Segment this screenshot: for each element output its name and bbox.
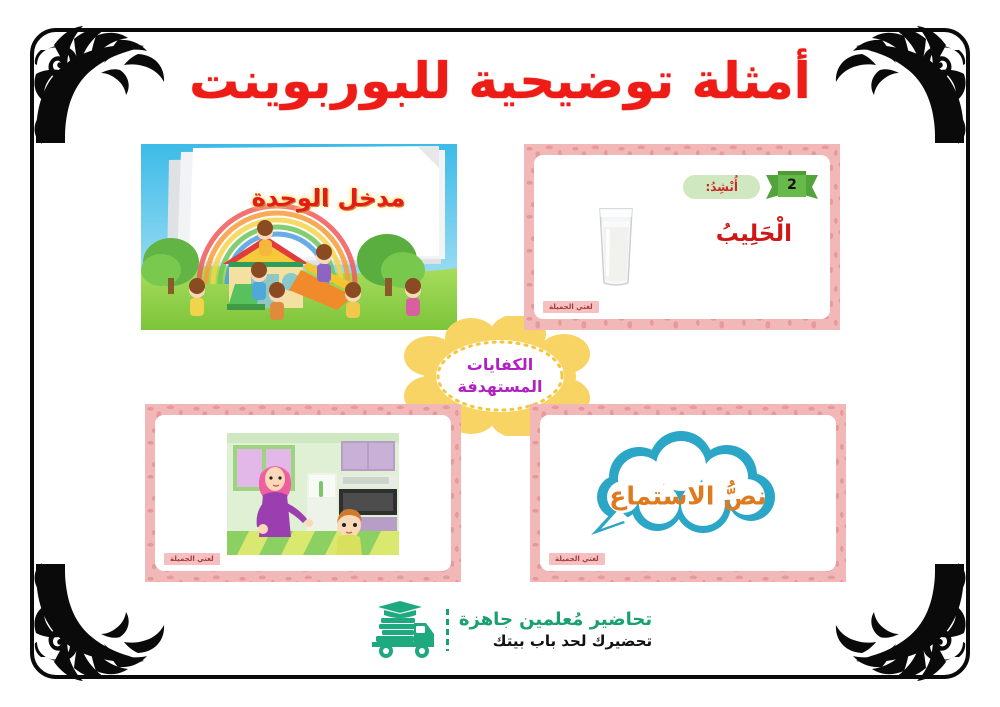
listening-text-label: نصُّ الاستماع	[540, 482, 836, 511]
slide-footer-tag: لغتي الجميلة	[549, 553, 605, 565]
slide-canvas: أُنْشِدُ: 2	[534, 155, 830, 319]
vocabulary-word: الْحَلِيبُ	[716, 221, 792, 247]
playground-illustration: مدخل الوحدة	[141, 144, 457, 330]
pink-patterned-border: أُنْشِدُ: 2	[524, 144, 840, 330]
slide-unit-intro[interactable]: مدخل الوحدة	[141, 144, 457, 330]
brand-logo-text: تحاضير مُعلمين جاهزة تحضيرك لحد باب بيتك	[459, 609, 652, 650]
lesson-number-value: 2	[766, 171, 818, 199]
speech-cloud-icon: نصُّ الاستماع	[540, 415, 836, 571]
slide-canvas: لغتي الجميلة	[155, 415, 451, 571]
glass-of-milk-icon	[592, 203, 640, 288]
slide-listening-text[interactable]: نصُّ الاستماع لغتي الجميلة	[530, 404, 846, 582]
brand-tagline-secondary: تحضيرك لحد باب بيتك	[459, 632, 652, 651]
truck-with-books-and-graduation-cap-icon	[348, 601, 436, 659]
chant-label-pill: أُنْشِدُ:	[683, 175, 760, 199]
slide-milk-chant[interactable]: أُنْشِدُ: 2	[524, 144, 840, 330]
poster-page: أمثلة توضيحية للبوربوينت	[0, 0, 1000, 707]
slide-footer-tag: لغتي الجميلة	[164, 553, 220, 565]
slide-heading-unit-intro: مدخل الوحدة	[252, 184, 405, 212]
brand-tagline-primary: تحاضير مُعلمين جاهزة	[459, 609, 652, 632]
brand-logo: تحاضير مُعلمين جاهزة تحضيرك لحد باب بيتك	[0, 601, 1000, 659]
lesson-number-ribbon: 2	[766, 171, 818, 199]
slide-kitchen-scene[interactable]: لغتي الجميلة	[145, 404, 461, 582]
slide-canvas: نصُّ الاستماع لغتي الجميلة	[540, 415, 836, 571]
logo-divider	[446, 609, 449, 651]
pink-patterned-border: نصُّ الاستماع لغتي الجميلة	[530, 404, 846, 582]
pink-patterned-border: لغتي الجميلة	[145, 404, 461, 582]
mother-and-boy-illustration	[227, 433, 399, 555]
page-title: أمثلة توضيحية للبوربوينت	[0, 52, 1000, 110]
slide-footer-tag: لغتي الجميلة	[543, 301, 599, 313]
